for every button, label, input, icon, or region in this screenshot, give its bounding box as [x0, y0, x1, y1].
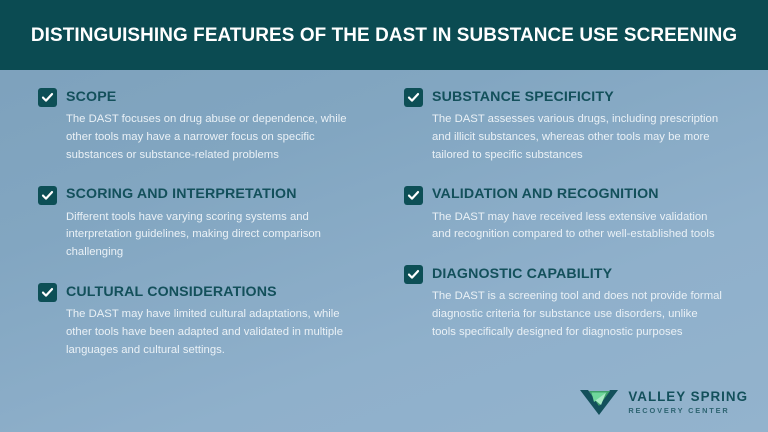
feature-item-diagnostic-capability: DIAGNOSTIC CAPABILITY The DAST is a scre…: [404, 265, 768, 342]
checkbox-check-icon: [404, 186, 423, 205]
checkbox-check-icon: [38, 186, 57, 205]
feature-heading: CULTURAL CONSIDERATIONS: [38, 283, 396, 302]
feature-heading: SCORING AND INTERPRETATION: [38, 186, 396, 205]
checkbox-check-icon: [404, 265, 423, 284]
feature-item-validation-and-recognition: VALIDATION AND RECOGNITION The DAST may …: [404, 186, 768, 245]
feature-title: SCORING AND INTERPRETATION: [66, 187, 297, 203]
checkbox-check-icon: [404, 88, 423, 107]
feature-description: The DAST focuses on drug abuse or depend…: [38, 111, 368, 165]
checkbox-check-icon: [38, 283, 57, 302]
feature-title: SUBSTANCE SPECIFICITY: [432, 90, 614, 106]
brand-logo: VALLEY SPRING RECOVERY CENTER: [579, 388, 748, 416]
brand-logo-text: VALLEY SPRING RECOVERY CENTER: [628, 390, 748, 415]
feature-title: DIAGNOSTIC CAPABILITY: [432, 267, 612, 283]
brand-subtitle: RECOVERY CENTER: [628, 407, 748, 414]
feature-list-container: SCOPE The DAST focuses on drug abuse or …: [0, 70, 768, 432]
page-header: DISTINGUISHING FEATURES OF THE DAST IN S…: [0, 0, 768, 70]
feature-description: Different tools have varying scoring sys…: [38, 209, 368, 263]
valley-spring-chevron-icon: [579, 388, 619, 416]
feature-description: The DAST assesses various drugs, includi…: [404, 111, 722, 165]
feature-description: The DAST may have limited cultural adapt…: [38, 306, 368, 360]
feature-heading: SCOPE: [38, 88, 396, 107]
feature-heading: SUBSTANCE SPECIFICITY: [404, 88, 768, 107]
feature-heading: VALIDATION AND RECOGNITION: [404, 186, 768, 205]
brand-name: VALLEY SPRING: [628, 390, 748, 403]
feature-description: The DAST is a screening tool and does no…: [404, 288, 722, 342]
feature-description: The DAST may have received less extensiv…: [404, 209, 722, 245]
feature-item-scope: SCOPE The DAST focuses on drug abuse or …: [38, 88, 396, 165]
feature-title: SCOPE: [66, 90, 116, 106]
checkbox-check-icon: [38, 88, 57, 107]
feature-column-left: SCOPE The DAST focuses on drug abuse or …: [38, 88, 396, 360]
feature-column-right: SUBSTANCE SPECIFICITY The DAST assesses …: [404, 88, 768, 360]
feature-item-cultural-considerations: CULTURAL CONSIDERATIONS The DAST may hav…: [38, 283, 396, 360]
feature-item-scoring-and-interpretation: SCORING AND INTERPRETATION Different too…: [38, 186, 396, 263]
feature-title: CULTURAL CONSIDERATIONS: [66, 285, 277, 301]
feature-title: VALIDATION AND RECOGNITION: [432, 187, 659, 203]
page-title: DISTINGUISHING FEATURES OF THE DAST IN S…: [31, 24, 737, 47]
feature-item-substance-specificity: SUBSTANCE SPECIFICITY The DAST assesses …: [404, 88, 768, 165]
feature-heading: DIAGNOSTIC CAPABILITY: [404, 265, 768, 284]
